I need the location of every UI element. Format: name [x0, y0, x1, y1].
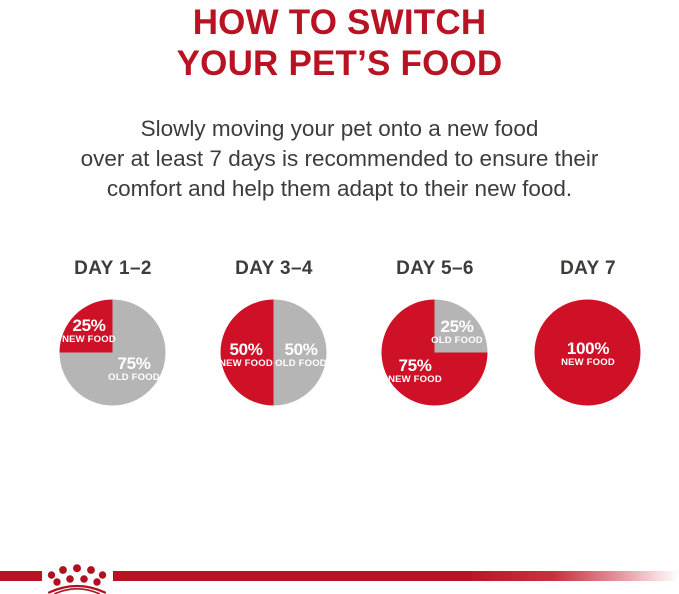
- footer-rule-right: [113, 571, 679, 581]
- pie-graphic-day-7: 100% NEW FOOD: [534, 299, 641, 406]
- footer-rule-left: [0, 571, 42, 581]
- pie-label-day-3-4: DAY 3–4: [194, 258, 354, 280]
- page-title: HOW TO SWITCH YOUR PET’S FOOD: [0, 2, 679, 84]
- pie-chart-day-5-6: DAY 5–6 25% OLD FOOD 75% NEW FOOD: [355, 258, 515, 438]
- pie-graphic-day-1-2: 25% NEW FOOD 75% OLD FOOD: [59, 299, 166, 406]
- footer: [0, 562, 679, 594]
- pie-label-day-7: DAY 7: [508, 258, 668, 280]
- intro-line-2: over at least 7 days is recommended to e…: [0, 144, 679, 174]
- pie-graphic-day-3-4: 50% NEW FOOD 50% OLD FOOD: [220, 299, 327, 406]
- page-title-line-1: HOW TO SWITCH: [0, 2, 679, 43]
- intro-line-3: comfort and help them adapt to their new…: [0, 174, 679, 204]
- page-title-line-2: YOUR PET’S FOOD: [0, 43, 679, 84]
- pie-chart-row: DAY 1–2 25% NEW FOOD 75% OLD FOOD DAY 3–…: [0, 258, 679, 438]
- pie-graphic-day-5-6: 25% OLD FOOD 75% NEW FOOD: [381, 299, 488, 406]
- pie-label-day-5-6: DAY 5–6: [355, 258, 515, 280]
- intro-paragraph: Slowly moving your pet onto a new food o…: [0, 114, 679, 204]
- pie-chart-day-1-2: DAY 1–2 25% NEW FOOD 75% OLD FOOD: [33, 258, 193, 438]
- pie-label-day-1-2: DAY 1–2: [33, 258, 193, 280]
- intro-line-1: Slowly moving your pet onto a new food: [0, 114, 679, 144]
- pie-chart-day-7: DAY 7 100% NEW FOOD: [508, 258, 668, 438]
- royal-canin-crown-icon: [44, 562, 110, 594]
- pie-chart-day-3-4: DAY 3–4 50% NEW FOOD 50% OLD FOOD: [194, 258, 354, 438]
